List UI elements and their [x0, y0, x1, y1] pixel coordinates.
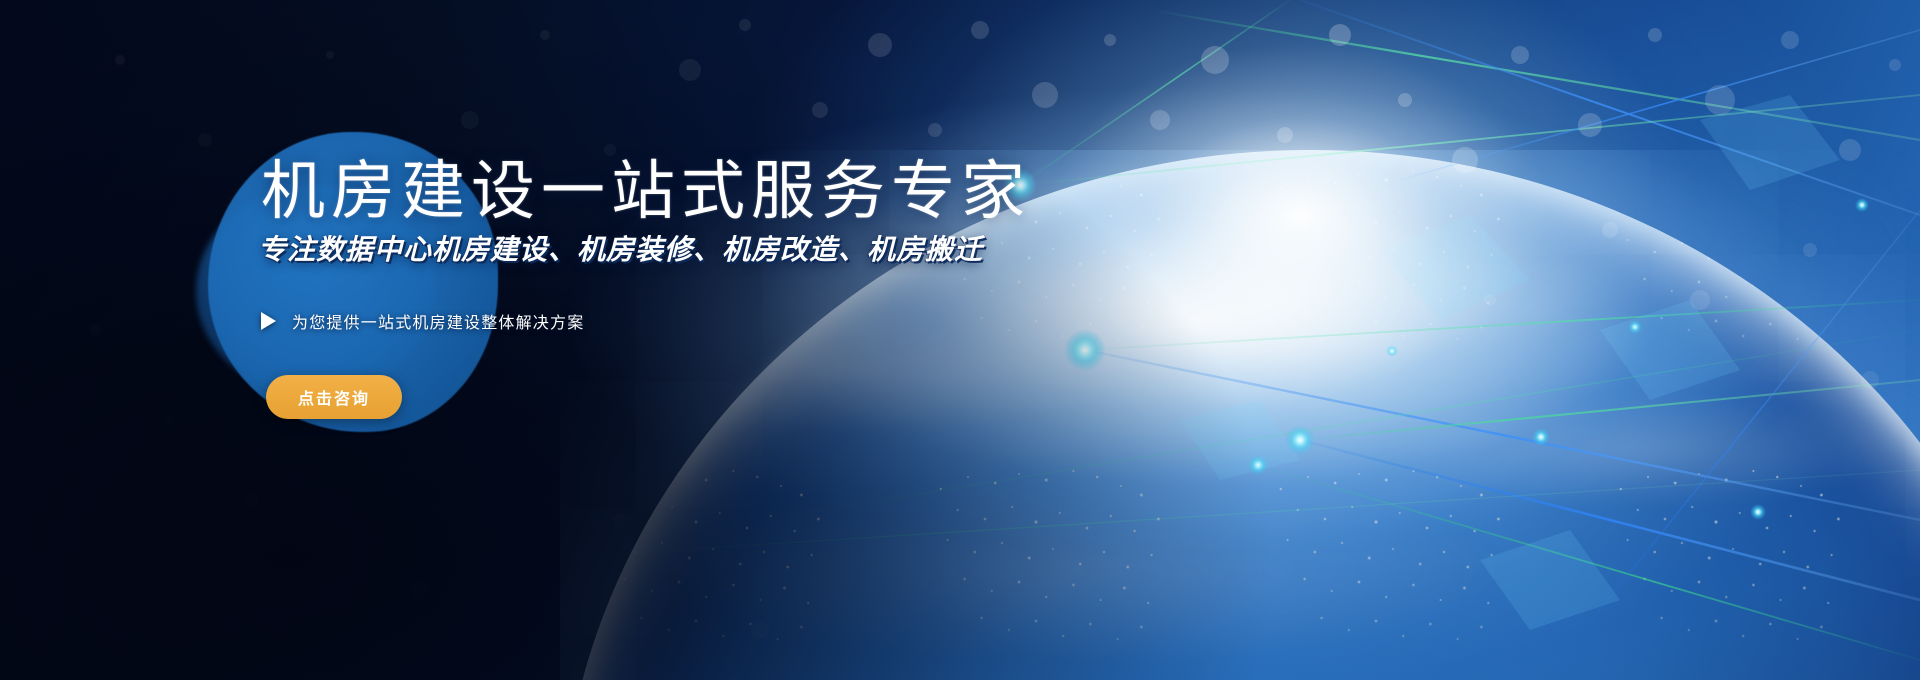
hero-subtitle: 专注数据中心机房建设、机房装修、机房改造、机房搬迁 — [258, 236, 983, 264]
consult-button[interactable]: 点击咨询 — [266, 375, 402, 419]
hero-banner: 机房建设一站式服务专家 专注数据中心机房建设、机房装修、机房改造、机房搬迁 为您… — [0, 0, 1920, 680]
play-triangle-icon — [261, 312, 276, 330]
hero-content: 机房建设一站式服务专家 专注数据中心机房建设、机房装修、机房改造、机房搬迁 为您… — [0, 0, 1920, 680]
tagline-row: 为您提供一站式机房建设整体解决方案 — [261, 309, 584, 333]
tagline-text: 为您提供一站式机房建设整体解决方案 — [292, 309, 584, 333]
page-title: 机房建设一站式服务专家 — [261, 159, 1031, 223]
